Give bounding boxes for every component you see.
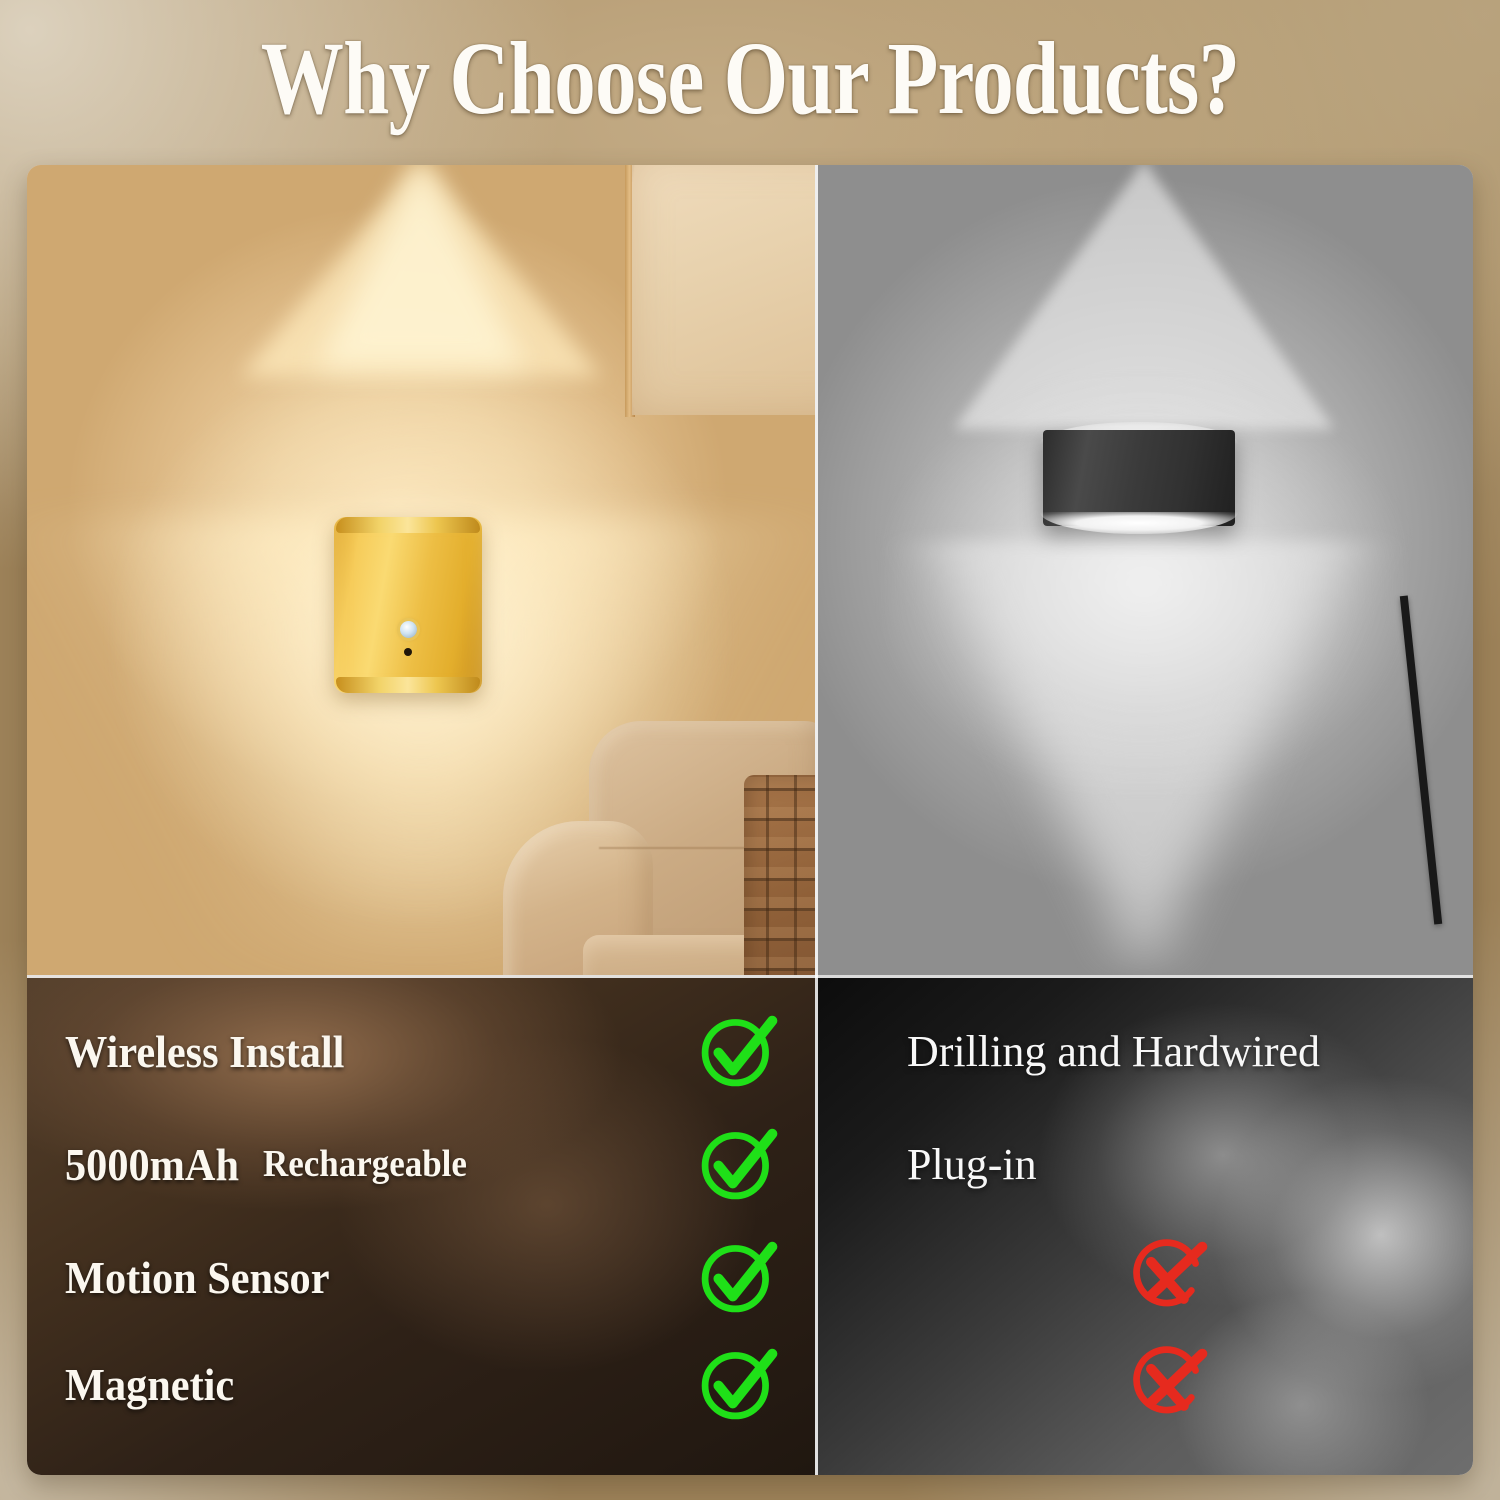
drawback-row-no-motion-sensor xyxy=(815,1221,1473,1333)
drawback-label-hardwired: Drilling and Hardwired xyxy=(907,995,1320,1107)
check-circle-icon xyxy=(695,1342,779,1426)
check-circle-icon xyxy=(695,1122,779,1206)
feature-label-rechargeable: 5000mAh Rechargeable xyxy=(65,1108,485,1220)
black-lamp-bottom-emitter xyxy=(1040,512,1238,534)
drawback-row-plug-in: Plug-in xyxy=(815,1108,1473,1220)
gold-wall-lamp xyxy=(334,517,482,693)
gold-lamp-body xyxy=(334,517,482,693)
gold-lamp-bottom-lip xyxy=(336,677,480,693)
feature-label-wireless-install: Wireless Install xyxy=(65,995,369,1107)
feature-row-magnetic: Magnetic xyxy=(27,1328,815,1440)
our-product-feature-list: Wireless Install 5000mAh Rechargeable xyxy=(27,975,815,1475)
gold-lamp-top-lip xyxy=(336,517,480,533)
upward-light-core xyxy=(317,165,525,367)
our-product-photo xyxy=(27,165,815,975)
competitor-feature-list: Drilling and Hardwired Plug-in xyxy=(815,975,1473,1475)
competitor-product-photo xyxy=(815,165,1473,975)
horizontal-divider xyxy=(27,975,1473,978)
drawback-label-plug-in: Plug-in xyxy=(907,1108,1037,1220)
black-wall-lamp xyxy=(1043,420,1235,536)
cross-circle-icon xyxy=(1125,1342,1209,1426)
indicator-dot-icon xyxy=(404,648,412,656)
page-title: Why Choose Our Products? xyxy=(150,20,1350,140)
check-circle-icon xyxy=(695,1009,779,1093)
feature-row-rechargeable: 5000mAh Rechargeable xyxy=(27,1108,815,1220)
drawback-row-not-magnetic xyxy=(815,1328,1473,1440)
check-circle-icon xyxy=(695,1235,779,1319)
cross-circle-icon xyxy=(1125,1235,1209,1319)
motion-sensor-icon xyxy=(400,621,417,638)
drawback-row-hardwired: Drilling and Hardwired xyxy=(815,995,1473,1107)
feature-row-wireless-install: Wireless Install xyxy=(27,995,815,1107)
vertical-divider xyxy=(815,165,818,1475)
woven-throw-pillow xyxy=(744,775,815,975)
infographic-page: Why Choose Our Products? xyxy=(0,0,1500,1500)
comparison-collage: Wireless Install 5000mAh Rechargeable xyxy=(27,165,1473,1475)
feature-row-motion-sensor: Motion Sensor xyxy=(27,1221,815,1333)
power-cable xyxy=(1220,462,1473,918)
feature-label-magnetic: Magnetic xyxy=(65,1328,249,1440)
feature-label-motion-sensor: Motion Sensor xyxy=(65,1221,353,1333)
